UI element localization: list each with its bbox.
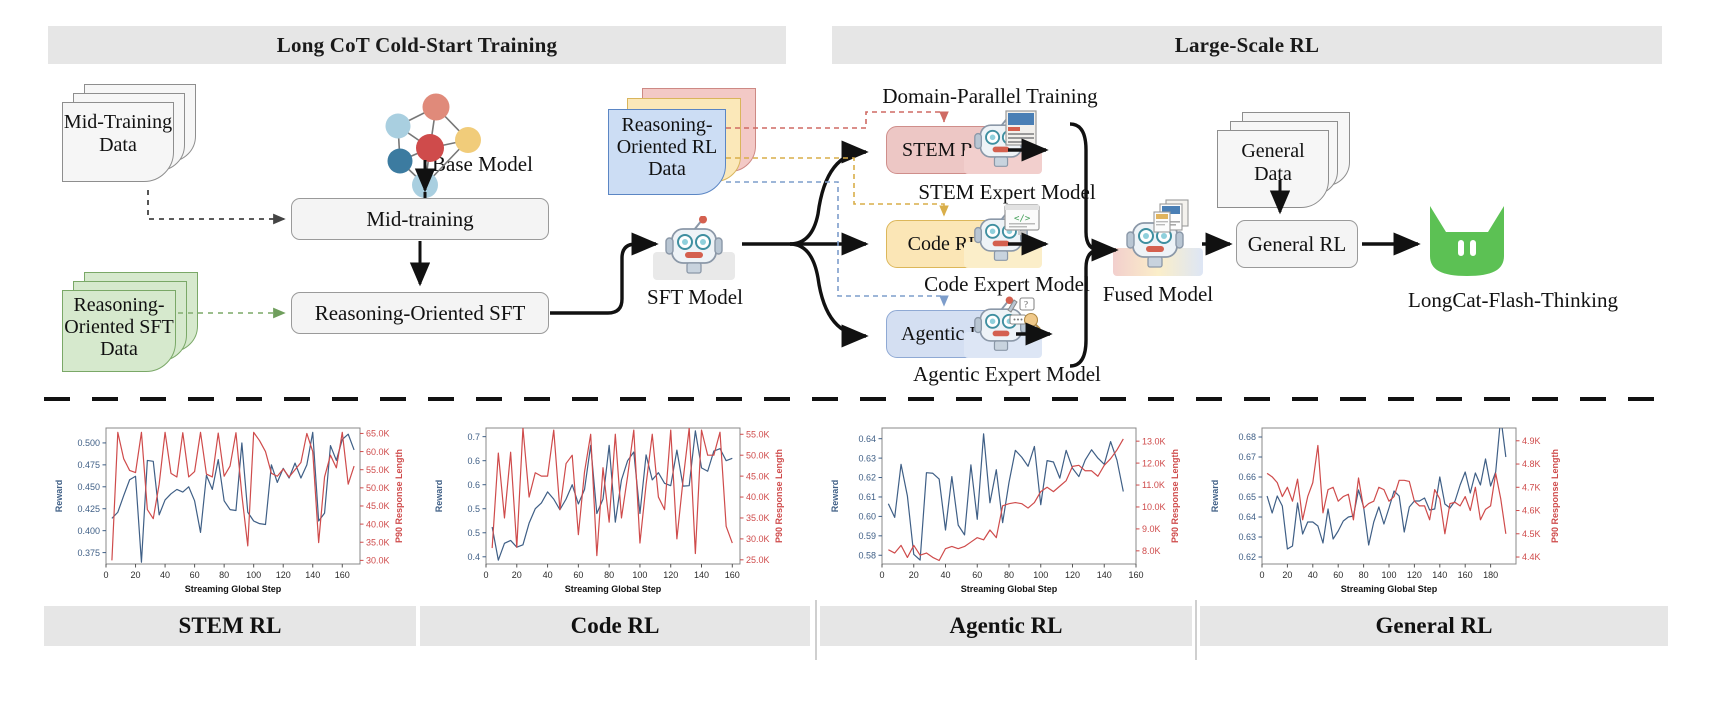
svg-text:Reward: Reward bbox=[54, 480, 64, 513]
svg-text:20: 20 bbox=[1282, 570, 1292, 580]
series-line-response-length bbox=[112, 432, 354, 560]
code-expert-model-label: Code Expert Model bbox=[912, 272, 1102, 297]
sft-model-label: SFT Model bbox=[620, 285, 770, 310]
svg-text:4.5K: 4.5K bbox=[1522, 529, 1541, 539]
chart-canvas: 0204060801001201401601800.620.630.640.65… bbox=[1200, 414, 1576, 602]
caption-code-rl: Code RL bbox=[420, 606, 810, 646]
svg-text:40.0K: 40.0K bbox=[746, 492, 770, 502]
reasoning-oriented-sft-box-label: Reasoning-Oriented SFT bbox=[315, 301, 526, 326]
svg-text:0: 0 bbox=[879, 570, 884, 580]
svg-text:50.0K: 50.0K bbox=[366, 483, 390, 493]
section-header-large-scale-rl-label: Large-Scale RL bbox=[1175, 33, 1320, 58]
sft-data-label-line2: Oriented SFT bbox=[62, 316, 176, 338]
svg-text:0.63: 0.63 bbox=[858, 453, 876, 463]
svg-text:40: 40 bbox=[1308, 570, 1318, 580]
svg-text:8.0K: 8.0K bbox=[1142, 546, 1161, 556]
rl-data-label-line1: Reasoning- bbox=[608, 114, 726, 136]
svg-text:?: ? bbox=[1024, 300, 1028, 310]
svg-text:13.0K: 13.0K bbox=[1142, 436, 1166, 446]
svg-text:160: 160 bbox=[1128, 570, 1143, 580]
svg-text:60: 60 bbox=[190, 570, 200, 580]
svg-text:Streaming Global Step: Streaming Global Step bbox=[185, 584, 282, 594]
svg-text:0.66: 0.66 bbox=[1238, 472, 1256, 482]
caption-stem-rl: STEM RL bbox=[44, 606, 416, 646]
chart-stem-rl: 0204060801001201401600.3750.4000.4250.45… bbox=[44, 414, 420, 602]
caption-stem-rl-label: STEM RL bbox=[179, 613, 282, 639]
svg-text:80: 80 bbox=[1359, 570, 1369, 580]
svg-text:11.0K: 11.0K bbox=[1142, 480, 1165, 490]
chart-general-rl: 0204060801001201401601800.620.630.640.65… bbox=[1200, 414, 1576, 602]
final-model-label: LongCat-Flash-Thinking bbox=[1348, 288, 1678, 313]
svg-text:0.475: 0.475 bbox=[77, 460, 100, 470]
svg-text:Reward: Reward bbox=[830, 480, 840, 513]
svg-text:0.5: 0.5 bbox=[467, 504, 480, 514]
svg-text:0.61: 0.61 bbox=[858, 492, 876, 502]
svg-text:45.0K: 45.0K bbox=[746, 471, 770, 481]
svg-text:25.0K: 25.0K bbox=[746, 555, 770, 565]
svg-text:180: 180 bbox=[1483, 570, 1498, 580]
svg-text:160: 160 bbox=[1458, 570, 1473, 580]
svg-text:0.63: 0.63 bbox=[1238, 532, 1256, 542]
general-rl-box-label: General RL bbox=[1248, 232, 1347, 257]
svg-text:55.0K: 55.0K bbox=[746, 429, 770, 439]
svg-text:4.6K: 4.6K bbox=[1522, 506, 1541, 516]
svg-text:65.0K: 65.0K bbox=[366, 429, 390, 439]
section-header-long-cot: Long CoT Cold-Start Training bbox=[48, 26, 786, 64]
base-model-label: Base Model bbox=[432, 152, 572, 177]
svg-text:0.60: 0.60 bbox=[858, 512, 876, 522]
svg-text:0.65: 0.65 bbox=[1238, 492, 1256, 502]
svg-text:80: 80 bbox=[1004, 570, 1014, 580]
svg-text:160: 160 bbox=[335, 570, 350, 580]
svg-text:35.0K: 35.0K bbox=[366, 537, 390, 547]
svg-text:100: 100 bbox=[246, 570, 261, 580]
svg-text:0.62: 0.62 bbox=[858, 473, 876, 483]
caption-agentic-rl-label: Agentic RL bbox=[949, 613, 1062, 639]
caption-general-rl: General RL bbox=[1200, 606, 1668, 646]
svg-text:20: 20 bbox=[512, 570, 522, 580]
svg-text:40: 40 bbox=[543, 570, 553, 580]
svg-text:20: 20 bbox=[909, 570, 919, 580]
svg-text:9.0K: 9.0K bbox=[1142, 524, 1161, 534]
svg-text:30.0K: 30.0K bbox=[746, 534, 770, 544]
svg-text:0.6: 0.6 bbox=[467, 456, 480, 466]
svg-text:20: 20 bbox=[131, 570, 141, 580]
svg-text:45.0K: 45.0K bbox=[366, 501, 390, 511]
chart-code-rl: 0204060801001201401600.40.50.50.60.60.72… bbox=[424, 414, 800, 602]
book-icon bbox=[1005, 110, 1037, 148]
sft-model-robot-icon bbox=[663, 216, 725, 278]
svg-text:60.0K: 60.0K bbox=[366, 447, 390, 457]
svg-text:Streaming Global Step: Streaming Global Step bbox=[565, 584, 662, 594]
svg-text:0.7: 0.7 bbox=[467, 432, 480, 442]
svg-text:12.0K: 12.0K bbox=[1142, 458, 1166, 468]
svg-text:10.0K: 10.0K bbox=[1142, 502, 1166, 512]
general-data-stack: General Data bbox=[1217, 112, 1362, 217]
svg-text:80: 80 bbox=[604, 570, 614, 580]
figure-root: Long CoT Cold-Start Training Large-Scale… bbox=[0, 0, 1712, 708]
svg-text:40: 40 bbox=[160, 570, 170, 580]
svg-text:140: 140 bbox=[694, 570, 709, 580]
mid-training-data-label-line2: Data bbox=[62, 134, 174, 156]
svg-text:0.67: 0.67 bbox=[1238, 452, 1256, 462]
stem-expert-model-label: STEM Expert Model bbox=[912, 180, 1102, 205]
svg-text:30.0K: 30.0K bbox=[366, 556, 390, 566]
svg-text:40: 40 bbox=[940, 570, 950, 580]
svg-text:100: 100 bbox=[632, 570, 647, 580]
svg-text:Streaming Global Step: Streaming Global Step bbox=[961, 584, 1058, 594]
chart-canvas: 0204060801001201401600.3750.4000.4250.45… bbox=[44, 414, 420, 602]
longcat-logo-icon bbox=[1424, 204, 1510, 278]
mid-training-data-stack: Mid-Training Data bbox=[62, 84, 202, 189]
svg-text:Reward: Reward bbox=[434, 480, 444, 513]
caption-code-rl-label: Code RL bbox=[571, 613, 660, 639]
fused-model-label: Fused Model bbox=[1098, 282, 1218, 307]
svg-text:140: 140 bbox=[1432, 570, 1447, 580]
svg-text:55.0K: 55.0K bbox=[366, 465, 390, 475]
general-data-label-line2: Data bbox=[1217, 163, 1329, 185]
svg-text:0.64: 0.64 bbox=[1238, 512, 1256, 522]
svg-text:0: 0 bbox=[103, 570, 108, 580]
svg-text:P90 Response Length: P90 Response Length bbox=[1550, 449, 1560, 543]
section-header-large-scale-rl: Large-Scale RL bbox=[832, 26, 1662, 64]
svg-text:4.8K: 4.8K bbox=[1522, 459, 1541, 469]
svg-text:Reward: Reward bbox=[1210, 480, 1220, 513]
svg-text:P90 Response Length: P90 Response Length bbox=[774, 449, 784, 543]
svg-text:40.0K: 40.0K bbox=[366, 519, 390, 529]
svg-text:120: 120 bbox=[276, 570, 291, 580]
svg-text:0: 0 bbox=[1259, 570, 1264, 580]
caption-general-rl-label: General RL bbox=[1376, 613, 1493, 639]
rl-data-stack: Reasoning- Oriented RL Data bbox=[608, 88, 773, 206]
svg-text:160: 160 bbox=[725, 570, 740, 580]
chart-canvas: 0204060801001201401600.40.50.50.60.60.72… bbox=[424, 414, 800, 602]
reasoning-oriented-sft-box[interactable]: Reasoning-Oriented SFT bbox=[291, 292, 549, 334]
agentic-expert-model-label: Agentic Expert Model bbox=[902, 362, 1112, 387]
tools-icon: ? bbox=[1004, 296, 1042, 334]
series-line-response-length bbox=[492, 428, 732, 556]
caption-agentic-rl: Agentic RL bbox=[820, 606, 1192, 646]
series-line-reward bbox=[1267, 417, 1506, 549]
svg-text:0.500: 0.500 bbox=[77, 438, 100, 448]
rl-data-label-line2: Oriented RL bbox=[608, 136, 726, 158]
section-header-long-cot-label: Long CoT Cold-Start Training bbox=[277, 33, 557, 58]
sft-data-label-line1: Reasoning- bbox=[62, 294, 176, 316]
svg-text:0.5: 0.5 bbox=[467, 528, 480, 538]
svg-text:100: 100 bbox=[1033, 570, 1048, 580]
chart-agentic-rl: 0204060801001201401600.580.590.600.610.6… bbox=[820, 414, 1196, 602]
svg-text:50.0K: 50.0K bbox=[746, 450, 770, 460]
svg-text:80: 80 bbox=[219, 570, 229, 580]
svg-text:35.0K: 35.0K bbox=[746, 513, 770, 523]
svg-text:0.450: 0.450 bbox=[77, 482, 100, 492]
svg-text:0.375: 0.375 bbox=[77, 548, 100, 558]
sft-data-stack: Reasoning- Oriented SFT Data bbox=[62, 272, 212, 382]
mid-training-data-label-line1: Mid-Training bbox=[62, 111, 174, 133]
domain-parallel-training-label: Domain-Parallel Training bbox=[860, 84, 1120, 109]
general-data-label-line1: General bbox=[1217, 140, 1329, 162]
svg-text:0.59: 0.59 bbox=[858, 531, 876, 541]
svg-text:140: 140 bbox=[305, 570, 320, 580]
svg-text:120: 120 bbox=[1065, 570, 1080, 580]
series-line-reward bbox=[888, 434, 1123, 560]
svg-text:140: 140 bbox=[1097, 570, 1112, 580]
code-window-icon: </> bbox=[1004, 204, 1040, 238]
svg-text:60: 60 bbox=[573, 570, 583, 580]
svg-text:60: 60 bbox=[1333, 570, 1343, 580]
fused-assets-icon bbox=[1152, 198, 1196, 242]
sft-data-label-line3: Data bbox=[62, 338, 176, 360]
svg-text:0.62: 0.62 bbox=[1238, 552, 1256, 562]
svg-text:0.425: 0.425 bbox=[77, 504, 100, 514]
svg-text:4.4K: 4.4K bbox=[1522, 552, 1541, 562]
svg-text:0.4: 0.4 bbox=[467, 552, 480, 562]
svg-text:0.68: 0.68 bbox=[1238, 432, 1256, 442]
svg-text:60: 60 bbox=[972, 570, 982, 580]
svg-text:0.6: 0.6 bbox=[467, 480, 480, 490]
svg-text:P90 Response Length: P90 Response Length bbox=[1170, 449, 1180, 543]
svg-text:</>: </> bbox=[1014, 214, 1031, 224]
rl-data-label-line3: Data bbox=[608, 158, 726, 180]
svg-text:0.58: 0.58 bbox=[858, 550, 876, 560]
svg-text:120: 120 bbox=[663, 570, 678, 580]
svg-text:P90 Response Length: P90 Response Length bbox=[394, 449, 404, 543]
mid-training-box-label: Mid-training bbox=[366, 207, 473, 232]
mid-training-box[interactable]: Mid-training bbox=[291, 198, 549, 240]
svg-text:Streaming Global Step: Streaming Global Step bbox=[1341, 584, 1438, 594]
svg-text:0: 0 bbox=[483, 570, 488, 580]
general-rl-box[interactable]: General RL bbox=[1236, 220, 1358, 268]
chart-canvas: 0204060801001201401600.580.590.600.610.6… bbox=[820, 414, 1196, 602]
svg-text:0.400: 0.400 bbox=[77, 526, 100, 536]
svg-text:100: 100 bbox=[1381, 570, 1396, 580]
svg-text:120: 120 bbox=[1407, 570, 1422, 580]
svg-text:0.64: 0.64 bbox=[858, 434, 876, 444]
svg-text:4.9K: 4.9K bbox=[1522, 436, 1541, 446]
svg-text:4.7K: 4.7K bbox=[1522, 482, 1541, 492]
